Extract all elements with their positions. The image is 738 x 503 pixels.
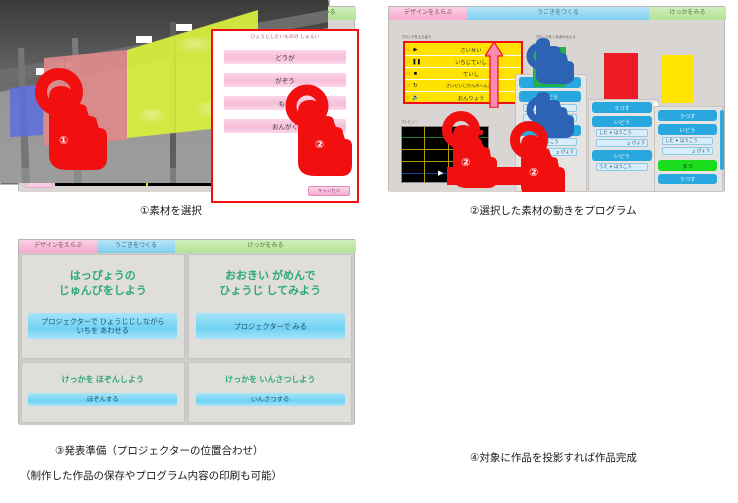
page-root: デザインをえらぶ うごきをつくる けっかをみる キャンバスせってい グリッド ス…: [0, 0, 738, 503]
dialog-title: ひょうじしたいものの しゅるい: [213, 34, 357, 40]
caption-1: ①素材を選択: [140, 203, 202, 218]
dialog-option-text[interactable]: もじ: [224, 96, 346, 110]
caption-3b: （制作した作品の保存やプログラム内容の印刷も可能）: [20, 468, 282, 483]
caption-2: ②選択した素材の動きをプログラム: [470, 203, 637, 218]
dialog-cancel-button[interactable]: キャンセル: [308, 186, 350, 196]
caption-4: ④対象に作品を投影すれば作品完成: [470, 450, 637, 465]
arrow-up-pink: [485, 42, 503, 113]
dialog-option-list: どうが がぞう もじ おんがく: [213, 50, 357, 133]
dialog-option-image[interactable]: がぞう: [224, 73, 346, 87]
arrow-right-red: [447, 159, 555, 192]
media-type-dialog: ひょうじしたいものの しゅるい どうが がぞう もじ おんがく キャンセル: [211, 29, 359, 203]
dialog-option-movie[interactable]: どうが: [224, 50, 346, 64]
caption-3: ③発表準備（プロジェクターの位置合わせ）: [55, 443, 264, 458]
dialog-option-music[interactable]: おんがく: [224, 119, 346, 133]
